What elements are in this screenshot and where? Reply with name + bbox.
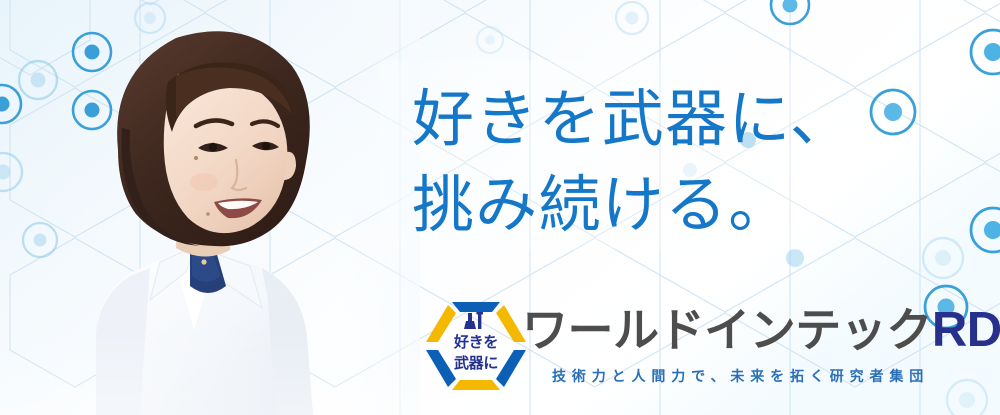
brand-tagline: 技術力と人間力で、未来を拓く研究者集団 [552, 366, 929, 386]
logo-lockup[interactable]: 好きを 武器に ワールドインテックRD 技術力と人間力で、未来を拓く研究者集団 [418, 296, 918, 400]
headline: 好きを武器に、 挑み続ける。 [412, 78, 972, 249]
brand-wordmark: ワールドインテックRD [522, 306, 1000, 355]
hero-banner: 好きを武器に、 挑み続ける。 [0, 0, 1000, 415]
hexagon-emblem [418, 296, 534, 396]
headline-line-1: 好きを武器に、 [412, 78, 972, 164]
researcher-photo [0, 0, 420, 415]
brand-name-jp: ワールドインテック [522, 304, 932, 356]
brand-name-rd: RD [932, 303, 1000, 357]
headline-line-2: 挑み続ける。 [412, 164, 972, 250]
